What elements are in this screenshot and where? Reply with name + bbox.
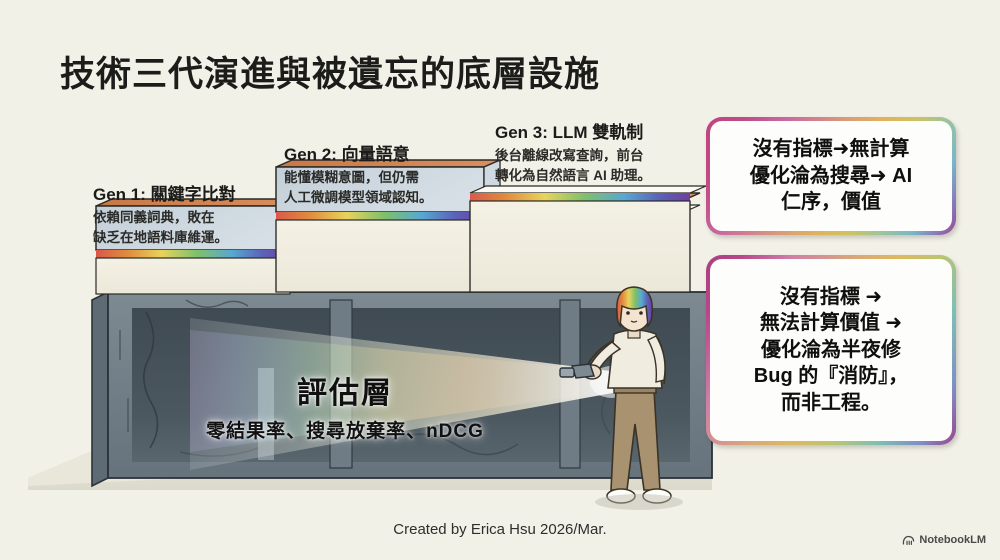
gen-1-body-line-1: 依賴同義詞典，敗在	[93, 208, 236, 228]
basement-main-label: 評估層	[150, 368, 540, 412]
callout-box-2: 沒有指標 ➜ 無法計算價值 ➜ 優化淪為半夜修 Bug 的『消防』， 而非工程。	[706, 255, 956, 445]
gen-label-2: Gen 2: 向量語意 能懂模糊意圖，但仍需 人工微調模型領域認知。	[284, 140, 433, 207]
callout-2-line-2: 無法計算價值 ➜	[760, 310, 902, 336]
callout-2-line-4: Bug 的『消防』，	[754, 363, 908, 389]
callout-1-line-2: 優化淪為搜尋➜ AI	[750, 163, 912, 189]
callout-2-inner: 沒有指標 ➜ 無法計算價值 ➜ 優化淪為半夜修 Bug 的『消防』， 而非工程。	[710, 259, 952, 441]
gen-label-3: Gen 3: LLM 雙軌制 後台離線改寫查詢，前台 轉化為自然語言 AI 助理…	[495, 118, 651, 185]
basement-label: 評估層 零結果率、搜尋放棄率、nDCG	[150, 368, 540, 443]
gen-2-body-line-2: 人工微調模型領域認知。	[284, 188, 433, 208]
basement-sub-label: 零結果率、搜尋放棄率、nDCG	[150, 416, 540, 443]
gen-1-body-line-2: 缺乏在地語料庫維運。	[93, 228, 236, 248]
credit-text: Created by Erica Hsu 2026/Mar.	[0, 521, 1000, 538]
gen-3-body-line-1: 後台離線改寫查詢，前台	[495, 146, 651, 166]
infographic-canvas: 技術三代演進與被遺忘的底層設施 Gen 1: 關鍵字比對 依賴同義詞典，敗在 缺…	[0, 0, 1000, 560]
notebooklm-icon	[902, 535, 915, 546]
gen-1-body: 依賴同義詞典，敗在 缺乏在地語料庫維運。	[93, 208, 236, 247]
callout-2-line-5: 而非工程。	[781, 390, 881, 416]
notebooklm-label: NotebookLM	[919, 534, 986, 546]
gen-label-1: Gen 1: 關鍵字比對 依賴同義詞典，敗在 缺乏在地語料庫維運。	[93, 180, 236, 247]
gen-3-body: 後台離線改寫查詢，前台 轉化為自然語言 AI 助理。	[495, 146, 651, 185]
page-title: 技術三代演進與被遺忘的底層設施	[60, 46, 600, 97]
gen-2-body: 能懂模糊意圖，但仍需 人工微調模型領域認知。	[284, 168, 433, 207]
gen-3-heading: Gen 3: LLM 雙軌制	[495, 118, 651, 143]
callout-1-line-3: 仁序，價值	[781, 189, 881, 215]
gen-2-body-line-1: 能懂模糊意圖，但仍需	[284, 168, 433, 188]
callout-1-line-1: 沒有指標➜無計算	[753, 136, 910, 162]
callout-2-line-3: 優化淪為半夜修	[761, 337, 901, 363]
callout-box-1: 沒有指標➜無計算 優化淪為搜尋➜ AI 仁序，價值	[706, 117, 956, 235]
gen-1-heading: Gen 1: 關鍵字比對	[93, 180, 236, 205]
callout-2-line-1: 沒有指標 ➜	[780, 284, 882, 310]
notebooklm-watermark: NotebookLM	[902, 534, 986, 546]
gen-2-heading: Gen 2: 向量語意	[284, 140, 433, 165]
callout-1-inner: 沒有指標➜無計算 優化淪為搜尋➜ AI 仁序，價值	[710, 121, 952, 231]
gen-3-body-line-2: 轉化為自然語言 AI 助理。	[495, 166, 651, 186]
